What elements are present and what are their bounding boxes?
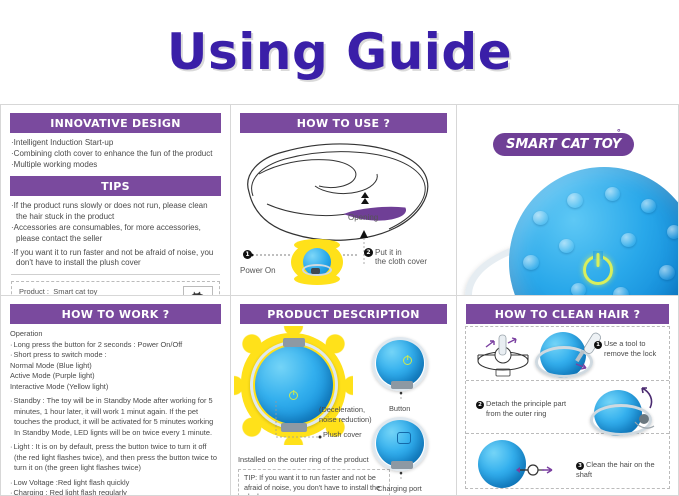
clean-step-3-text: 3Clean the hair on the shaft	[576, 460, 669, 480]
button-leader	[371, 391, 431, 405]
step-1-line2: remove the lock	[604, 349, 656, 358]
step-number: 1	[243, 250, 252, 259]
step-2-line1: Detach the principle part	[486, 399, 566, 408]
panel-how-to-clean-hair: HOW TO CLEAN HAIR ?	[457, 296, 679, 496]
work-bullet: Long press the button for 2 seconds : Po…	[10, 340, 221, 351]
list-item: If the product runs slowly or does not r…	[11, 201, 220, 223]
decel-line2: noise reduction)	[319, 415, 372, 424]
work-low-voltage: Low Voltage :Red light flash quickly	[10, 478, 221, 489]
step-number: 3	[576, 462, 584, 470]
list-item: Combining cloth cover to enhance the fun…	[11, 149, 220, 160]
product-spec-box: Product : Smart cat toy Model : L06 Mate…	[11, 281, 220, 296]
mode-interactive: Interactive Mode (Yellow light)	[10, 382, 221, 393]
step-1-marker: 1	[243, 250, 254, 259]
list-item: Intelligent Induction Start-up	[11, 138, 220, 149]
charging-port-label: Charging port	[377, 484, 422, 494]
step-2-line2: from the outer ring	[486, 409, 546, 418]
plush-cover-label: Plush cover	[323, 430, 362, 440]
how-to-clean-hair-header: HOW TO CLEAN HAIR ?	[466, 304, 669, 324]
installed-note: Installed on the outer ring of the produ…	[238, 455, 369, 464]
clean-steps-box: 1Use a tool to remove the lock 2Detach t…	[465, 326, 670, 489]
how-to-work-header: HOW TO WORK ?	[10, 304, 221, 324]
work-bullet: Short press to switch mode :	[10, 350, 221, 361]
spec-product-label: Product :	[19, 287, 49, 296]
clean-step-2: 2Detach the principle part from the oute…	[466, 381, 669, 435]
panel-grid: INNOVATIVE DESIGN Intelligent Induction …	[0, 104, 679, 496]
power-button-icon	[289, 391, 298, 400]
power-button-icon	[583, 255, 613, 285]
clean-step-2-text: 2Detach the principle part from the oute…	[476, 399, 586, 419]
clean-step-1-text: 1Use a tool to remove the lock	[594, 339, 656, 359]
panel-how-to-work: HOW TO WORK ? Operation Long press the b…	[0, 296, 231, 496]
using-guide-page: Using Guide INNOVATIVE DESIGN Intelligen…	[0, 0, 679, 496]
panel-innovative-design: INNOVATIVE DESIGN Intelligent Induction …	[0, 104, 231, 296]
degree-mark: °	[617, 127, 621, 137]
spec-product-value: Smart cat toy	[53, 287, 97, 296]
list-item: Multiple working modes	[11, 160, 220, 171]
innovative-design-header: INNOVATIVE DESIGN	[10, 113, 221, 133]
work-standby: Standby : The toy will be in Standby Mod…	[10, 396, 221, 438]
step-2-line2: the cloth cover	[375, 257, 427, 266]
step-2-line1: Put it in	[375, 248, 402, 257]
mode-active: Active Mode (Purple light)	[10, 371, 221, 382]
how-to-work-body: Operation Long press the button for 2 se…	[1, 329, 230, 496]
tip-box: TIP: If you want it to run faster and no…	[238, 469, 390, 496]
page-title-area: Using Guide	[0, 0, 679, 104]
toy-in-plush-icon	[291, 242, 343, 282]
mode-normal: Normal Mode (Blue light)	[10, 361, 221, 372]
product-description-illustration: (Deceleration, noise reduction) Plush co…	[231, 329, 456, 496]
clean-step-3: 3Clean the hair on the shaft	[466, 434, 669, 488]
panel-product-description: PRODUCT DESCRIPTION (Deceleration, noise…	[231, 296, 457, 496]
top-connector	[283, 338, 305, 347]
for-cats-badge: For Cats	[183, 286, 213, 296]
charging-port-leader	[371, 471, 431, 485]
list-item: If you want it to run faster and not be …	[11, 248, 220, 270]
deceleration-note: (Deceleration, noise reduction)	[319, 405, 372, 424]
page-title: Using Guide	[167, 27, 512, 77]
tips-header: TIPS	[10, 176, 221, 196]
panel-product-photo: SMART CAT TOY °	[457, 104, 679, 296]
innovative-design-list: Intelligent Induction Start-up Combining…	[1, 138, 230, 170]
step-2-label: 2Put it in the cloth cover	[364, 248, 449, 266]
lock-diagram-icon	[472, 333, 534, 381]
shaft-arrow-icon	[514, 456, 584, 496]
step-number: 2	[364, 248, 373, 257]
work-light: Light : It is on by default, press the b…	[10, 442, 221, 474]
step-3-line1: Clean the hair on the shaft	[576, 460, 655, 479]
clean-step-1: 1Use a tool to remove the lock	[466, 327, 669, 381]
decel-line1: (Deceleration,	[319, 405, 365, 414]
smart-cat-toy-badge: SMART CAT TOY	[493, 133, 634, 156]
how-to-use-header: HOW TO USE ?	[240, 113, 447, 133]
step-number: 1	[594, 341, 602, 349]
step-number: 2	[476, 401, 484, 409]
button-label: Button	[389, 404, 410, 414]
step-1-line1: Use a tool to	[604, 339, 646, 348]
product-description-header: PRODUCT DESCRIPTION	[240, 304, 447, 324]
panel-how-to-use: HOW TO USE ? Opening	[231, 104, 457, 296]
list-item: Accessories are consumables, for more ac…	[11, 223, 220, 245]
work-charging: Charging : Red light flash regularly	[10, 488, 221, 496]
step-1-label: Power On	[240, 266, 276, 275]
tips-list: If the product runs slowly or does not r…	[1, 201, 230, 269]
divider	[11, 274, 220, 275]
operation-title: Operation	[10, 329, 221, 340]
how-to-use-illustration: Opening	[231, 138, 456, 288]
opening-label: Opening	[348, 213, 378, 222]
